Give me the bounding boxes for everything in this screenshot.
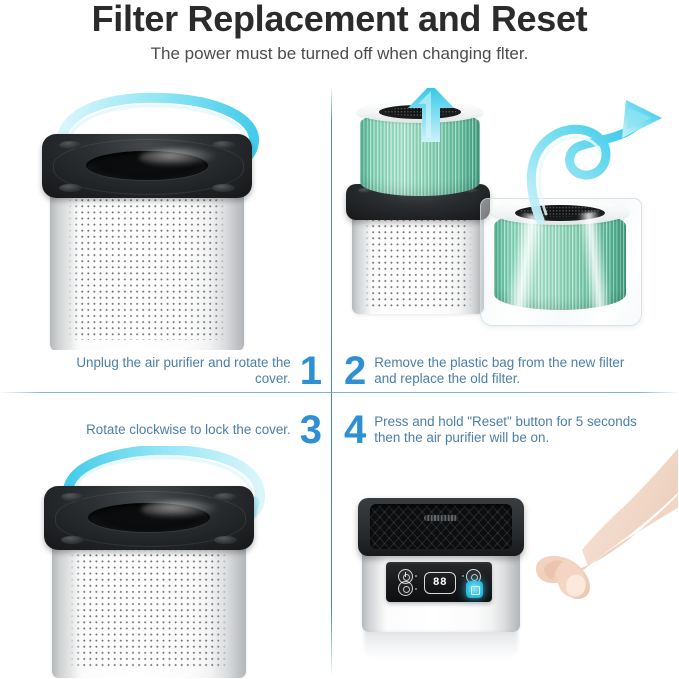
step-4-caption: 4 Press and hold "Reset" button for 5 se… [344,411,654,449]
timer-icon[interactable] [398,581,413,596]
step-3-text: Rotate clockwise to lock the cover. [86,422,291,439]
timer-indicator-dot [415,588,417,590]
vertical-divider [331,86,332,678]
step-4-text: Press and hold "Reset" button for 5 seco… [374,414,654,447]
cover-bump [59,184,82,192]
display-screen: 88 [424,572,456,594]
step-3-illustration [2,446,330,678]
replace-curl-arrow-icon [502,92,678,222]
purifier-mesh-grill [67,185,226,340]
step-2-caption: 2 Remove the plastic bag from the new fi… [344,352,644,390]
page-title: Filter Replacement and Reset [0,0,679,40]
lift-up-arrow-icon [396,88,466,144]
step-3-number: 3 [300,411,322,449]
hand-pressing-finger [462,446,678,642]
purifier-top-cover[interactable] [42,134,252,198]
step-1-number: 1 [300,352,322,390]
step-2-illustration [334,88,678,350]
step-2-number: 2 [344,352,366,390]
cover-bump [214,493,237,501]
step-1-illustration [2,88,330,350]
purifier-top-cover[interactable] [44,486,254,550]
power-indicator-dot [415,575,417,577]
step-1-text: Unplug the air purifier and rotate the c… [40,355,291,388]
display-value: 88 [433,577,447,589]
cover-bump [214,536,237,544]
grille-hub [424,515,457,520]
page-subtitle: The power must be turned off when changi… [0,44,679,64]
cover-bump [212,184,235,192]
step-4-number: 4 [344,411,366,449]
infographic-page: Filter Replacement and Reset The power m… [0,0,679,679]
purifier-mesh-grill [364,217,472,308]
cover-bump [61,536,84,544]
air-purifier-base-unit [352,206,484,314]
cover-bump [212,141,235,149]
horizontal-divider [0,392,679,393]
step-2-text: Remove the plastic bag from the new filt… [374,355,644,388]
step-1-caption: Unplug the air purifier and rotate the c… [40,352,322,390]
step-4-illustration: 88 [334,446,678,678]
step-3-caption: Rotate clockwise to lock the cover. 3 [40,411,322,449]
purifier-mesh-grill [69,534,228,668]
